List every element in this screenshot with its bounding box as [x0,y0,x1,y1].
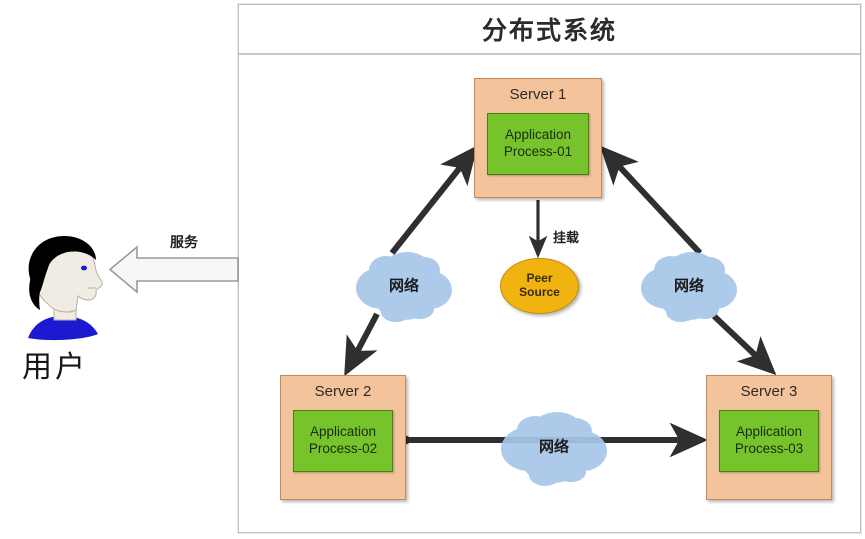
process-line-2: Process-02 [309,441,377,458]
cloud-label: 网络 [637,275,741,296]
peer-source-line-2: Source [519,286,560,300]
diagram-title-bar: 分布式系统 [239,5,860,55]
server-1-process-box[interactable]: Application Process-01 [487,113,589,175]
cloud-label: 网络 [352,275,456,296]
peer-source-line-1: Peer [526,272,552,286]
network-cloud-left: 网络 [352,246,456,324]
mount-label: 挂载 [553,227,579,246]
server-1-box[interactable]: Server 1 Application Process-01 [474,78,602,198]
cloud-label: 网络 [495,436,613,457]
process-line-1: Application [310,424,376,441]
process-line-1: Application [736,424,802,441]
process-line-2: Process-01 [504,144,572,161]
server-2-process-box[interactable]: Application Process-02 [293,410,393,472]
user-label: 用户 [22,342,88,386]
process-line-1: Application [505,127,571,144]
user-head-profile-icon [14,234,134,344]
server-2-box[interactable]: Server 2 Application Process-02 [280,375,406,500]
server-3-box[interactable]: Server 3 Application Process-03 [706,375,832,500]
process-line-2: Process-03 [735,441,803,458]
server-1-title: Server 1 [475,86,601,103]
service-arrow-label: 服务 [170,232,198,252]
server-2-title: Server 2 [281,383,405,400]
page-title: 分布式系统 [482,11,617,47]
network-cloud-bottom: 网络 [495,405,613,487]
peer-source-node[interactable]: Peer Source [500,258,579,314]
server-3-process-box[interactable]: Application Process-03 [719,410,819,472]
server-3-title: Server 3 [707,383,831,400]
user-avatar [14,234,134,344]
network-cloud-right: 网络 [637,246,741,324]
